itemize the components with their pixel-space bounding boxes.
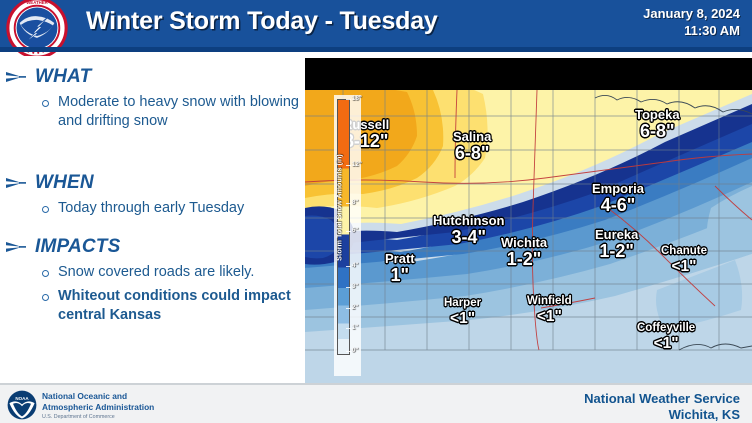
section-heading-label: WHEN bbox=[35, 172, 94, 194]
footer-office-location: Wichita, KS bbox=[584, 407, 740, 423]
svg-text:WEATHER: WEATHER bbox=[26, 0, 48, 5]
city-value: <1" bbox=[661, 259, 707, 275]
briefing-bullet-text: Snow covered roads are likely. bbox=[58, 263, 254, 282]
footer-divider bbox=[0, 383, 752, 385]
city-name: Wichita bbox=[501, 236, 547, 249]
briefing-bullet: Snow covered roads are likely. bbox=[42, 263, 306, 282]
map-city-label-hutchinson: Hutchinson 3-4" bbox=[433, 214, 505, 246]
city-value: <1" bbox=[444, 311, 481, 327]
city-value: 6-8" bbox=[453, 144, 491, 162]
section-heading-row: WHEN bbox=[6, 172, 306, 194]
page-title: Winter Storm Today - Tuesday bbox=[86, 7, 438, 36]
svg-text:NOAA: NOAA bbox=[15, 396, 29, 401]
section-heading-row: IMPACTS bbox=[6, 236, 306, 258]
colorbar-tick: 1" bbox=[352, 324, 359, 331]
city-name: Eureka bbox=[595, 228, 638, 241]
city-value: <1" bbox=[637, 336, 695, 352]
noaa-line-3: U.S. Department of Commerce bbox=[42, 414, 154, 420]
map-city-label-topeka: Topeka 6-8" bbox=[635, 108, 680, 140]
briefing-section-when: WHEN Today through early Tuesday bbox=[6, 172, 306, 218]
city-value: 1-2" bbox=[501, 250, 547, 268]
section-heading-label: WHAT bbox=[35, 66, 91, 88]
footer-office-name: National Weather Service bbox=[584, 391, 740, 407]
header-datetime: January 8, 2024 11:30 AM bbox=[643, 5, 740, 39]
briefing-bullet-text: Moderate to heavy snow with blowing and … bbox=[58, 93, 300, 131]
map-city-label-coffeyville: Coffeyville <1" bbox=[637, 323, 695, 351]
arrow-bullet-icon bbox=[6, 176, 27, 190]
colorbar-tick: 3" bbox=[352, 283, 359, 290]
map-city-label-wichita: Wichita 1-2" bbox=[501, 236, 547, 268]
briefing-section-what: WHAT Moderate to heavy snow with blowing… bbox=[6, 66, 306, 131]
footer-office: National Weather Service Wichita, KS bbox=[584, 391, 740, 423]
briefing-panel: WHAT Moderate to heavy snow with blowing… bbox=[0, 56, 305, 380]
city-name: Pratt bbox=[385, 252, 415, 265]
city-value: 4-6" bbox=[592, 196, 644, 214]
briefing-bullet-text: Whiteout conditions could impact central… bbox=[58, 287, 300, 325]
city-name: Coffeyville bbox=[637, 323, 695, 335]
city-value: 1-2" bbox=[595, 242, 638, 260]
briefing-section-impacts: IMPACTS Snow covered roads are likely. W… bbox=[6, 236, 306, 325]
city-name: Emporia bbox=[592, 182, 644, 195]
noaa-line-2: Atmospheric Administration bbox=[42, 402, 154, 413]
city-value: <1" bbox=[527, 309, 572, 325]
map-title-bar bbox=[305, 58, 752, 90]
circle-bullet-icon bbox=[42, 100, 49, 107]
header-accent-rule bbox=[0, 47, 752, 52]
briefing-bullet: Today through early Tuesday bbox=[42, 199, 306, 218]
section-heading-label: IMPACTS bbox=[35, 236, 121, 258]
city-name: Winfield bbox=[527, 296, 572, 308]
colorbar-tick: 2" bbox=[352, 304, 359, 311]
map-city-label-chanute: Chanute <1" bbox=[661, 246, 707, 274]
header-bar: WEATHER Winter Storm Today - Tuesday Jan… bbox=[0, 0, 752, 47]
city-name: Hutchinson bbox=[433, 214, 505, 227]
colorbar-tick: 0" bbox=[352, 347, 359, 354]
colorbar-axis-label: Storm Total Snow Amounts (in) bbox=[335, 133, 344, 283]
noaa-agency-text: National Oceanic and Atmospheric Adminis… bbox=[42, 391, 154, 420]
forecast-map[interactable]: Forecast Snow Accumulations Storm Total … bbox=[305, 58, 752, 383]
arrow-bullet-icon bbox=[6, 240, 27, 254]
briefing-bullet-text: Today through early Tuesday bbox=[58, 199, 244, 218]
map-city-label-eureka: Eureka 1-2" bbox=[595, 228, 638, 260]
city-value: 3-4" bbox=[433, 228, 505, 246]
circle-bullet-icon bbox=[42, 294, 49, 301]
city-name: Topeka bbox=[635, 108, 680, 121]
colorbar-tick: 18" bbox=[352, 95, 362, 102]
colorbar-tick: 12" bbox=[352, 161, 362, 168]
arrow-bullet-icon bbox=[6, 70, 27, 84]
noaa-seagull-icon: NOAA bbox=[7, 390, 37, 420]
map-city-label-emporia: Emporia 4-6" bbox=[592, 182, 644, 214]
map-city-label-harper: Harper <1" bbox=[444, 298, 481, 326]
city-name: Chanute bbox=[661, 246, 707, 258]
map-city-label-winfield: Winfield <1" bbox=[527, 296, 572, 324]
city-value: 6-8" bbox=[635, 122, 680, 140]
header-date: January 8, 2024 bbox=[643, 5, 740, 22]
circle-bullet-icon bbox=[42, 206, 49, 213]
briefing-slide: WEATHER Winter Storm Today - Tuesday Jan… bbox=[0, 0, 752, 423]
noaa-line-1: National Oceanic and bbox=[42, 391, 154, 402]
map-city-label-pratt: Pratt 1" bbox=[385, 252, 415, 284]
header-time: 11:30 AM bbox=[643, 22, 740, 39]
map-city-label-salina: Salina 6-8" bbox=[453, 130, 491, 162]
colorbar-legend: Storm Total Snow Amounts (in) 18" 12" 8"… bbox=[317, 95, 361, 376]
briefing-bullet: Whiteout conditions could impact central… bbox=[42, 287, 306, 325]
colorbar-tick: 4" bbox=[352, 262, 359, 269]
colorbar-tick: 6" bbox=[352, 227, 359, 234]
city-name: Salina bbox=[453, 130, 491, 143]
city-value: 1" bbox=[385, 266, 415, 284]
section-heading-row: WHAT bbox=[6, 66, 306, 88]
city-name: Harper bbox=[444, 298, 481, 310]
colorbar-ticks: 18" 12" 8" 6" 4" 3" 2" 1" 0" bbox=[350, 95, 384, 376]
briefing-bullet: Moderate to heavy snow with blowing and … bbox=[42, 93, 306, 131]
circle-bullet-icon bbox=[42, 270, 49, 277]
colorbar-tick: 8" bbox=[352, 199, 359, 206]
